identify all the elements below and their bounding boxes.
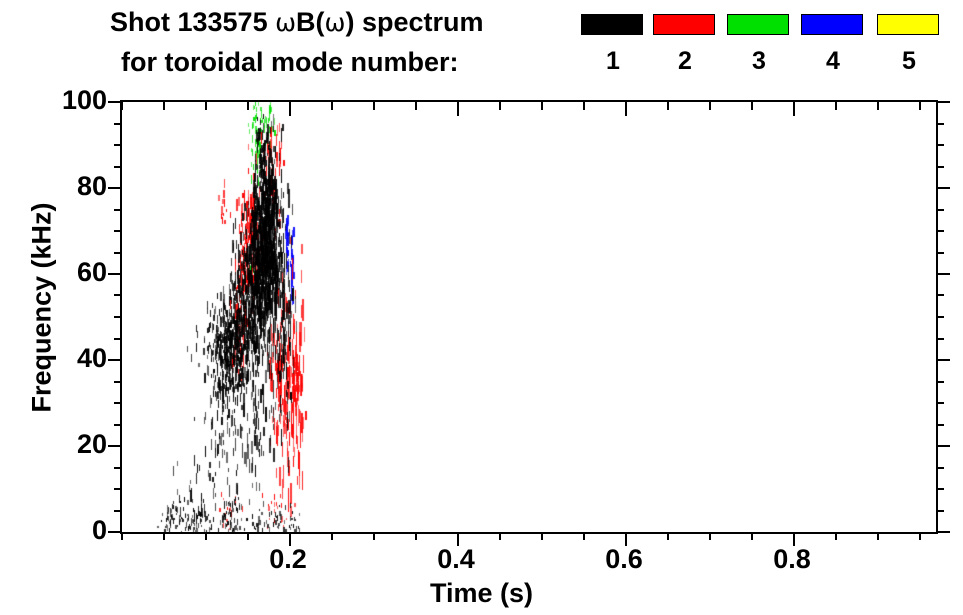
ytick-label-20: 20 <box>77 430 107 458</box>
legend-label-n5: 5 <box>877 48 941 74</box>
legend-label-n4: 4 <box>801 48 865 74</box>
legend-entry-3[interactable]: 3 <box>727 14 791 74</box>
ytick-right-95 <box>936 123 944 125</box>
ytick-right-55 <box>936 294 944 296</box>
ytick-right-90 <box>936 144 944 146</box>
ytick-left-70 <box>114 230 122 232</box>
ytick-left-65 <box>114 252 122 254</box>
ytick-right-75 <box>936 209 944 211</box>
xtick-top-0.25 <box>331 102 333 110</box>
ytick-right-30 <box>936 402 944 404</box>
xtick-bottom-0.95 <box>919 532 921 540</box>
spectrogram-canvas <box>122 102 936 532</box>
xtick-top-0.10 <box>205 102 207 110</box>
xtick-bottom-0.65 <box>667 532 669 540</box>
ytick-label-100: 100 <box>62 86 107 114</box>
ytick-left-5 <box>114 510 122 512</box>
xtick-bottom-0.90 <box>877 532 879 540</box>
xtick-top-0.60 <box>625 102 627 116</box>
xtick-top-0.20 <box>289 102 291 116</box>
ytick-left-50 <box>114 316 122 318</box>
ytick-label-40: 40 <box>77 344 107 372</box>
legend-label-n3: 3 <box>727 48 791 74</box>
xtick-top-0.85 <box>835 102 837 110</box>
legend-swatch-n1 <box>581 14 643 35</box>
ytick-right-5 <box>936 510 944 512</box>
ytick-left-55 <box>114 294 122 296</box>
ytick-right-85 <box>936 166 944 168</box>
xtick-bottom-0.25 <box>331 532 333 540</box>
ytick-left-0 <box>108 531 122 533</box>
ytick-right-60 <box>936 273 950 275</box>
ytick-left-25 <box>114 424 122 426</box>
xtick-bottom-0.45 <box>499 532 501 540</box>
xtick-top-0.35 <box>415 102 417 110</box>
xtick-top-0.30 <box>373 102 375 110</box>
ytick-right-45 <box>936 338 944 340</box>
xtick-label-0-2: 0.2 <box>248 545 328 573</box>
xtick-top-0.00 <box>121 102 123 110</box>
ytick-left-100 <box>108 101 122 103</box>
omega-symbol-2: ω <box>325 8 346 37</box>
ytick-right-100 <box>936 101 950 103</box>
xtick-bottom-0.75 <box>751 532 753 540</box>
omega-symbol-1: ω <box>275 8 296 37</box>
ytick-left-45 <box>114 338 122 340</box>
ytick-left-35 <box>114 381 122 383</box>
xtick-top-0.95 <box>919 102 921 110</box>
xtick-top-0.65 <box>667 102 669 110</box>
legend-swatch-n4 <box>801 14 863 35</box>
ytick-right-25 <box>936 424 944 426</box>
xtick-bottom-0.05 <box>163 532 165 540</box>
xtick-bottom-0.70 <box>709 532 711 540</box>
xtick-bottom-0.30 <box>373 532 375 540</box>
legend-entry-5[interactable]: 5 <box>877 14 941 74</box>
x-axis-title: Time (s) <box>0 578 963 609</box>
title-B-text: B( <box>296 7 325 37</box>
legend-swatch-n2 <box>653 14 715 35</box>
xtick-bottom-0.85 <box>835 532 837 540</box>
xtick-top-0.80 <box>793 102 795 116</box>
legend-entry-1[interactable]: 1 <box>581 14 645 74</box>
xtick-top-0.05 <box>163 102 165 110</box>
ytick-right-20 <box>936 445 950 447</box>
legend-label-n2: 2 <box>653 48 717 74</box>
xtick-label-0-6: 0.6 <box>584 545 664 573</box>
xtick-bottom-0.00 <box>121 532 123 540</box>
ytick-label-80: 80 <box>77 172 107 200</box>
y-axis-title: Frequency (kHz) <box>27 93 58 523</box>
ytick-right-70 <box>936 230 944 232</box>
legend-swatch-n5 <box>877 14 939 35</box>
title-shot-text: Shot 133575 <box>110 7 275 37</box>
spectrum-figure: Shot 133575 ωB(ω) spectrum for toroidal … <box>0 0 963 615</box>
xtick-top-0.55 <box>583 102 585 110</box>
plot-area <box>120 100 938 534</box>
title-spectrum-text: ) spectrum <box>345 7 483 37</box>
ytick-left-30 <box>114 402 122 404</box>
xtick-label-0-8: 0.8 <box>752 545 832 573</box>
ytick-left-60 <box>108 273 122 275</box>
ytick-left-90 <box>114 144 122 146</box>
xtick-label-0-4: 0.4 <box>416 545 496 573</box>
xtick-bottom-0.50 <box>541 532 543 540</box>
ytick-right-15 <box>936 467 944 469</box>
xtick-bottom-0.10 <box>205 532 207 540</box>
ytick-left-40 <box>108 359 122 361</box>
xtick-top-0.70 <box>709 102 711 110</box>
ytick-right-0 <box>936 531 950 533</box>
legend-entry-4[interactable]: 4 <box>801 14 865 74</box>
ytick-right-50 <box>936 316 944 318</box>
ytick-left-95 <box>114 123 122 125</box>
xtick-top-0.90 <box>877 102 879 110</box>
xtick-top-0.15 <box>247 102 249 110</box>
xtick-top-0.75 <box>751 102 753 110</box>
ytick-right-65 <box>936 252 944 254</box>
legend: 1 2 3 4 5 <box>581 14 953 86</box>
ytick-left-75 <box>114 209 122 211</box>
ytick-left-10 <box>114 488 122 490</box>
ytick-right-10 <box>936 488 944 490</box>
ytick-left-15 <box>114 467 122 469</box>
xtick-top-0.50 <box>541 102 543 110</box>
legend-label-n1: 1 <box>581 48 645 74</box>
xtick-bottom-0.35 <box>415 532 417 540</box>
ytick-right-40 <box>936 359 950 361</box>
xtick-top-0.40 <box>457 102 459 116</box>
xtick-top-0.45 <box>499 102 501 110</box>
ytick-label-60: 60 <box>77 258 107 286</box>
ytick-right-80 <box>936 187 950 189</box>
xtick-bottom-0.15 <box>247 532 249 540</box>
ytick-left-80 <box>108 187 122 189</box>
ytick-left-20 <box>108 445 122 447</box>
legend-entry-2[interactable]: 2 <box>653 14 717 74</box>
figure-title-line-2: for toroidal mode number: <box>121 47 459 77</box>
ytick-label-0: 0 <box>92 516 107 544</box>
legend-swatch-n3 <box>727 14 789 35</box>
ytick-left-85 <box>114 166 122 168</box>
figure-title-line-1: Shot 133575 ωB(ω) spectrum <box>110 7 484 38</box>
ytick-right-35 <box>936 381 944 383</box>
xtick-bottom-0.55 <box>583 532 585 540</box>
